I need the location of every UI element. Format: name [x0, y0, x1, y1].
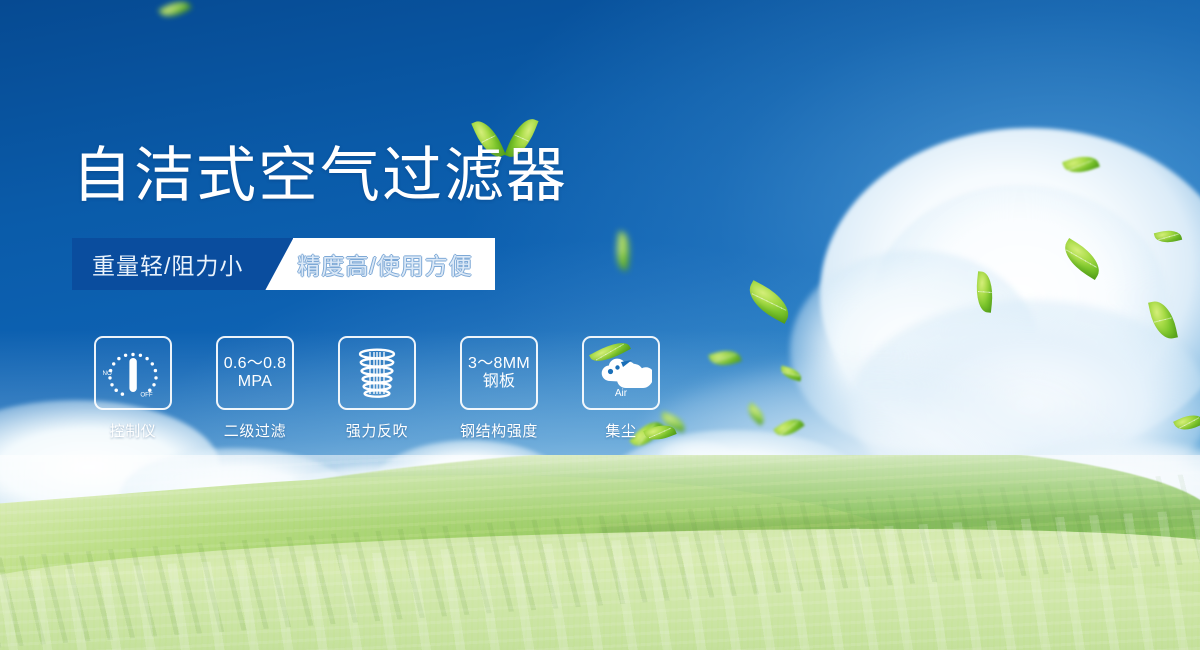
- gauge-label-off: OFF: [140, 392, 153, 399]
- feature-label: 集尘: [605, 420, 636, 441]
- feature-label: 控制仪: [110, 420, 157, 441]
- feature-icon-box: 0.6～0.8 MPA: [216, 336, 294, 410]
- feature-list: NO OFF 控制仪 0.6～0.8 MPA 二级过滤: [72, 336, 682, 441]
- feature-item-control-gauge[interactable]: NO OFF 控制仪: [72, 336, 194, 441]
- pressure-unit: MPA: [224, 373, 287, 391]
- tagline-right-text: 精度高/使用方便: [293, 238, 494, 290]
- feature-item-dust-collection[interactable]: Air 集尘: [560, 336, 682, 441]
- air-cloud-icon: Air: [590, 347, 652, 399]
- feature-item-steel-strength[interactable]: 3～8MM 钢板 钢结构强度: [438, 336, 560, 441]
- page-title: 自洁式空气过滤器: [72, 146, 568, 206]
- feature-item-two-stage-filter[interactable]: 0.6～0.8 MPA 二级过滤: [194, 336, 316, 441]
- feature-icon-box: NO OFF: [94, 336, 172, 410]
- feature-label: 二级过滤: [224, 420, 286, 441]
- pressure-text-icon: 0.6～0.8 MPA: [224, 355, 287, 391]
- air-filter-promo-banner: 自洁式空气过滤器 重量轻/阻力小 精度高/使用方便: [0, 0, 1200, 650]
- tagline-left-text: 重量轻/阻力小: [72, 238, 265, 290]
- feature-label: 强力反吹: [346, 420, 408, 441]
- gauge-label-no: NO: [103, 370, 112, 377]
- steel-plate-text-icon: 3～8MM 钢板: [468, 355, 530, 391]
- pressure-range-value: 0.6～0.8: [224, 355, 287, 372]
- filter-cartridge-icon: [349, 344, 405, 402]
- feature-icon-box: [338, 336, 416, 410]
- gauge-dial-icon: NO OFF: [102, 344, 164, 402]
- feature-label: 钢结构强度: [460, 420, 538, 441]
- tagline-divider: [265, 238, 293, 290]
- tagline-bar: 重量轻/阻力小 精度高/使用方便: [72, 238, 495, 290]
- banner-content: 自洁式空气过滤器 重量轻/阻力小 精度高/使用方便: [0, 0, 1200, 650]
- feature-icon-box: 3～8MM 钢板: [460, 336, 538, 410]
- feature-icon-box: Air: [582, 336, 660, 410]
- air-cloud-caption: Air: [615, 388, 628, 399]
- steel-material: 钢板: [468, 373, 530, 391]
- steel-thickness-value: 3～8MM: [468, 355, 530, 372]
- feature-item-strong-blowback[interactable]: 强力反吹: [316, 336, 438, 441]
